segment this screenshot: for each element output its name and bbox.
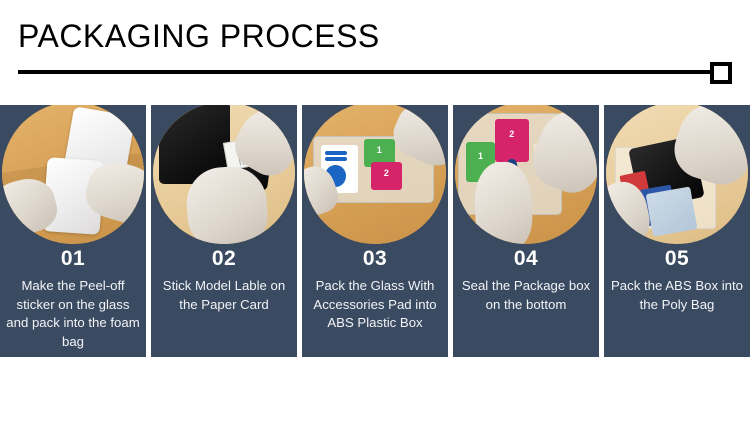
step-description: Seal the Package box on the bottom <box>457 277 595 314</box>
page-title: PACKAGING PROCESS <box>18 18 380 55</box>
step-number: 02 <box>151 247 297 271</box>
step-number: 03 <box>302 247 448 271</box>
tab-label-one: 1 <box>466 151 494 161</box>
poly-bag-photo <box>606 105 748 244</box>
step-number: 01 <box>0 247 146 271</box>
abs-plastic-box-photo: 1 2 <box>304 105 446 244</box>
step-description: Pack the ABS Box into the Poly Bag <box>608 277 746 314</box>
tab-label-two: 2 <box>371 168 402 178</box>
seal-package-photo: 1 2 <box>455 105 597 244</box>
process-step-card-03[interactable]: 1 2 03 Pack the Glass With Accessories P… <box>302 105 448 357</box>
step-description: Make the Peel-off sticker on the glass a… <box>4 277 142 351</box>
process-step-list: 01 Make the Peel-off sticker on the glas… <box>0 105 750 357</box>
divider-line <box>18 70 712 74</box>
square-outline-icon <box>710 62 732 84</box>
peel-off-sticker-photo <box>2 105 144 244</box>
page-header: PACKAGING PROCESS <box>0 0 750 92</box>
step-description: Pack the Glass With Accessories Pad into… <box>306 277 444 333</box>
step-description: Stick Model Lable on the Paper Card <box>155 277 293 314</box>
step-number: 05 <box>604 247 750 271</box>
tab-label-two: 2 <box>495 129 529 139</box>
step-number: 04 <box>453 247 599 271</box>
title-divider <box>18 62 732 84</box>
model-label-photo <box>153 105 295 244</box>
process-step-card-04[interactable]: 1 2 04 Seal the Package box on the botto… <box>453 105 599 357</box>
process-step-card-01[interactable]: 01 Make the Peel-off sticker on the glas… <box>0 105 146 357</box>
tab-label-one: 1 <box>364 145 395 155</box>
process-step-card-02[interactable]: 02 Stick Model Lable on the Paper Card <box>151 105 297 357</box>
process-step-card-05[interactable]: 05 Pack the ABS Box into the Poly Bag <box>604 105 750 357</box>
